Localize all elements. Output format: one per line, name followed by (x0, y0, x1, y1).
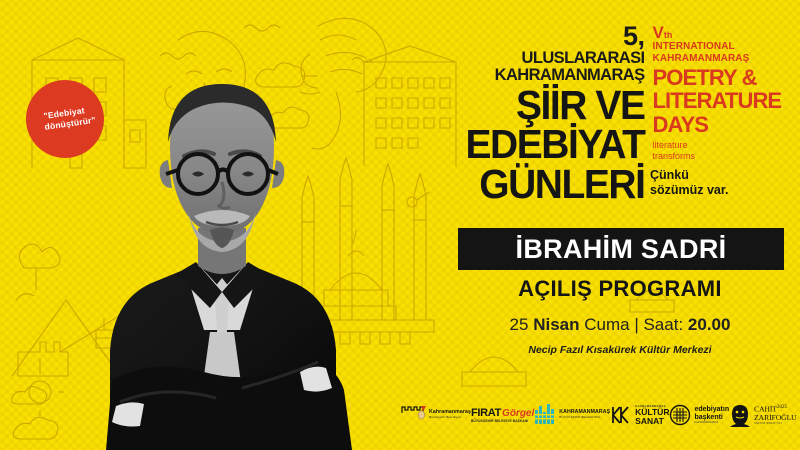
logo-firat-gorgel: FIRAT Görgel BÜYÜKŞEHİR BELEDİYE BAŞKANI (471, 400, 534, 430)
sanat-label: SANAT (635, 417, 669, 426)
logo-cahit-zarifoglu: CAHİT2025 ZARİFOĞLU KÜLTÜR SANAT YILI (729, 400, 797, 430)
edebiyatin-label: edebiyatın (694, 406, 729, 413)
english-edition: Vth (653, 24, 800, 41)
program-title: AÇILIŞ PROGRAMI (440, 276, 800, 302)
mayor-title: BÜYÜKŞEHİR BELEDİYE BAŞKANI (471, 419, 534, 423)
zarifoglu-sub: KÜLTÜR SANAT YILI (754, 422, 797, 425)
kks-monogram-icon (610, 404, 632, 426)
mayor-name-row: FIRAT Görgel (471, 407, 534, 419)
mayor-first-name: FIRAT (471, 407, 501, 419)
title-line-1: ULUSLARARASI (440, 50, 645, 67)
title-big-1: ŞİİR VE (450, 87, 644, 125)
baskenti-label: başkenti (694, 414, 729, 421)
poster-canvas: "Edebiyat dönüştürür" (0, 0, 800, 450)
zarifoglu-name: ZARİFOĞLU (754, 414, 797, 422)
logo-kahramanmaras-buyuksehir-belediyesi: Kahramanmaraş Büyükşehir Belediyesi (400, 400, 471, 430)
time-label: Saat: (643, 315, 683, 334)
guest-name: İBRAHİM SADRİ (516, 234, 727, 265)
slogan-line-1: Çünkü (650, 168, 729, 183)
logo-kahramanmaras-city-mark: KAHRAMANMARAŞ BÜYÜKŞEHİR BELEDİYESİ (534, 400, 610, 430)
english-big-3: DAYS (653, 114, 800, 135)
english-note-2: transforms (653, 151, 800, 163)
slogan-badge-text: "Edebiyat dönüştürür" (34, 104, 97, 133)
slogan-text: Çünkü sözümüz var. (650, 168, 729, 199)
ordinal-suffix: th (664, 30, 673, 40)
english-big-2: LITERATURE (653, 90, 800, 111)
pixel-grid-icon (534, 403, 556, 427)
logo-text-kultur-sanat: KAHRAMANMARAŞ KÜLTÜR SANAT (635, 404, 669, 425)
edebiyatin-sub: KAHRAMANMARAŞ (694, 421, 729, 424)
mayor-last-name: Görgel (502, 408, 534, 419)
logo-text-cahit-zarifoglu: CAHİT2025 ZARİFOĞLU KÜLTÜR SANAT YILI (754, 405, 797, 424)
title-big-2: EDEBİYAT (450, 126, 644, 164)
slogan-line-2: sözümüz var. (650, 183, 729, 198)
datetime-separator: | (634, 315, 638, 334)
logo-text-municipality: Kahramanmaraş Büyükşehir Belediyesi (429, 410, 471, 420)
logo-edebiyatin-baskenti: edebiyatın başkenti KAHRAMANMARAŞ (669, 400, 729, 430)
roman-numeral: V (653, 23, 664, 42)
speaker-portrait (92, 50, 362, 450)
woven-circle-icon (669, 404, 691, 426)
date-day: 25 (510, 315, 529, 334)
date-weekday: Cuma (584, 315, 629, 334)
guest-name-banner: İBRAHİM SADRİ (458, 228, 784, 270)
cahit-year: 2025 (777, 405, 787, 410)
english-line-1: INTERNATIONAL (653, 41, 800, 53)
english-big-1: POETRY & (653, 67, 800, 88)
logo-text-city: KAHRAMANMARAŞ BÜYÜKŞEHİR BELEDİYESİ (559, 410, 610, 420)
text-column: 5, ULUSLARARASI KAHRAMANMARAŞ ŞİİR VE ED… (440, 0, 800, 450)
cahit-zarifoglu-portrait-icon (729, 403, 751, 427)
sponsor-logo-strip: Kahramanmaraş Büyükşehir Belediyesi FIRA… (400, 398, 790, 432)
municipality-sub: Büyükşehir Belediyesi (429, 416, 471, 420)
turkish-title: 5, ULUSLARARASI KAHRAMANMARAŞ ŞİİR VE ED… (440, 24, 653, 204)
english-line-2: KAHRAMANMARAŞ (653, 53, 800, 65)
title-big-3: GÜNLERİ (450, 166, 644, 204)
english-note-1: literature (653, 140, 800, 152)
logo-kultur-sanat: KAHRAMANMARAŞ KÜLTÜR SANAT (610, 400, 669, 430)
venue-name: Necip Fazıl Kısakürek Kültür Merkezi (440, 344, 800, 356)
edition-number: 5, (440, 24, 645, 50)
date-month: Nisan (533, 315, 579, 334)
english-note: literature transforms (653, 140, 800, 163)
logo-text-edebiyatin-baskenti: edebiyatın başkenti KAHRAMANMARAŞ (694, 406, 729, 424)
event-datetime: 25 Nisan Cuma | Saat: 20.00 (440, 315, 800, 335)
castle-medal-icon (400, 402, 426, 428)
city-sub: BÜYÜKŞEHİR BELEDİYESİ (559, 416, 610, 420)
logo-text-mayor: FIRAT Görgel BÜYÜKŞEHİR BELEDİYE BAŞKANI (471, 407, 534, 423)
title-block: 5, ULUSLARARASI KAHRAMANMARAŞ ŞİİR VE ED… (440, 24, 800, 204)
time-value: 20.00 (688, 315, 731, 334)
